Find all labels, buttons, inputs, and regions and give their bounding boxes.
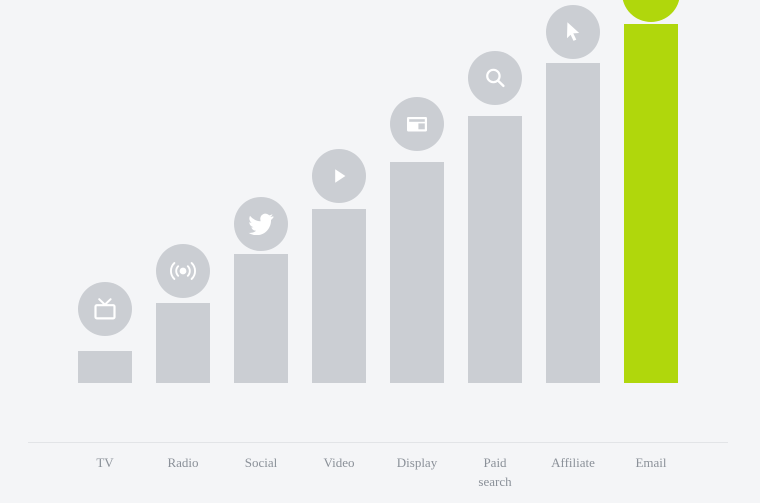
tick-label-paid-search-line2: search — [440, 472, 550, 491]
bar-email[interactable] — [624, 24, 678, 383]
envelope-icon — [622, 0, 680, 22]
bar-paid-search[interactable] — [468, 116, 522, 383]
tv-icon — [78, 282, 132, 336]
bar-display[interactable] — [390, 162, 444, 383]
twitter-bird-icon — [234, 197, 288, 251]
radio-icon — [156, 244, 210, 298]
play-icon — [312, 149, 366, 203]
tick-label-email: Email — [596, 453, 706, 472]
bar-chart: TV Radio Social Video Display Paid searc… — [0, 0, 760, 503]
bar-tv[interactable] — [78, 351, 132, 383]
plot-area — [0, 0, 760, 443]
cursor-arrow-icon — [546, 5, 600, 59]
x-axis-line — [28, 442, 728, 443]
bar-radio[interactable] — [156, 303, 210, 383]
bar-social[interactable] — [234, 254, 288, 383]
display-ad-icon — [390, 97, 444, 151]
bar-affiliate[interactable] — [546, 63, 600, 383]
search-icon — [468, 51, 522, 105]
tick-label-email-line1: Email — [596, 453, 706, 472]
bar-video[interactable] — [312, 209, 366, 383]
